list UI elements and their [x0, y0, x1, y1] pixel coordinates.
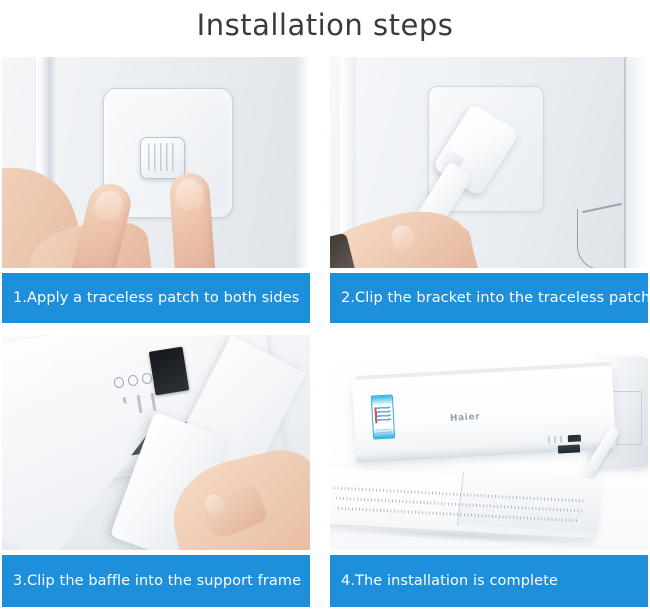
fingernail-icon [92, 188, 125, 224]
step-photo-1 [2, 57, 310, 268]
wall-seam-icon [624, 57, 626, 268]
step-card-1[interactable]: 1.Apply a traceless patch to both sides [2, 57, 310, 323]
step-card-4[interactable]: Haier 4.The installation is complete [330, 335, 648, 607]
step-photo-2 [330, 57, 648, 268]
page-title: Installation steps [0, 4, 650, 46]
step-card-3[interactable]: 3.Clip the baffle into the support frame [2, 335, 310, 607]
step-photo-4: Haier [330, 335, 648, 550]
steps-grid: 1.Apply a traceless patch to both sides … [0, 57, 650, 609]
wall-right-panel-icon [626, 57, 648, 268]
step-card-2[interactable]: 2.Clip the bracket into the traceless pa… [330, 57, 648, 323]
energy-label-sticker-icon [371, 394, 395, 439]
step-caption-2: 2.Clip the bracket into the traceless pa… [330, 273, 648, 323]
step-caption-1: 1.Apply a traceless patch to both sides [2, 273, 310, 323]
fingernail-icon [175, 178, 204, 211]
finger-icon [168, 172, 215, 268]
step-photo-3 [2, 335, 310, 550]
patch-connector-icon [140, 137, 185, 179]
step-caption-3: 3.Clip the baffle into the support frame [2, 555, 310, 607]
air-outlet-icon [558, 444, 580, 453]
brand-logo: Haier [450, 412, 481, 424]
step-caption-4: 4.The installation is complete [330, 555, 648, 607]
display-panel-icon [149, 347, 189, 396]
cable-icon [577, 209, 622, 268]
wall-right-panel-icon [296, 57, 310, 268]
